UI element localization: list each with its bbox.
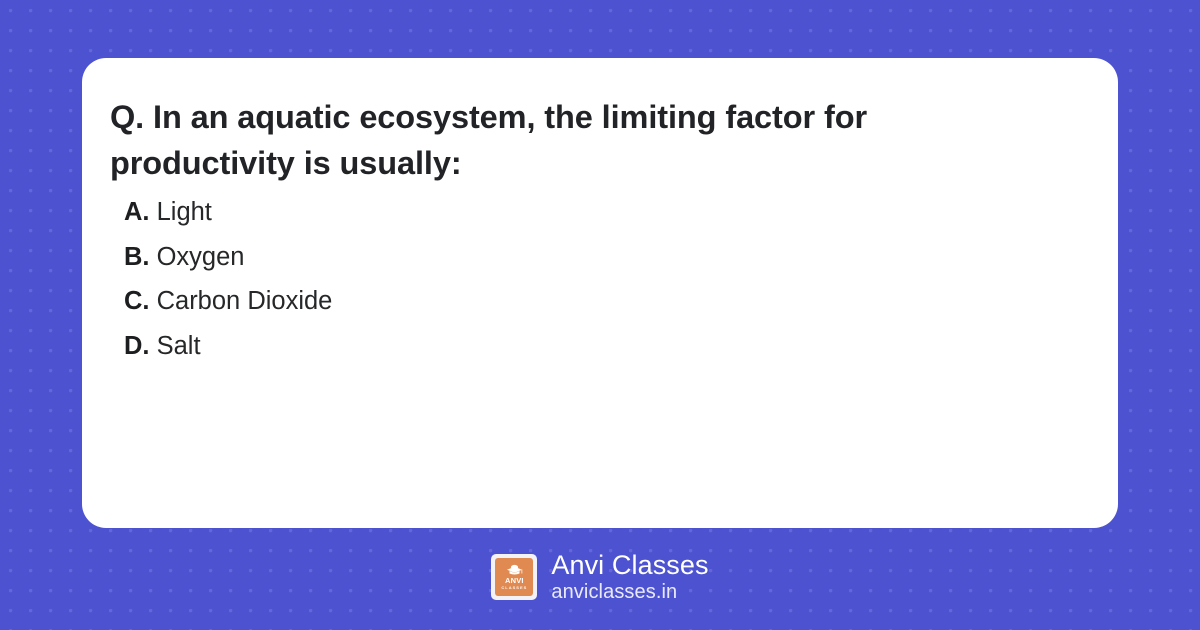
brand-logo-word: ANVI — [505, 577, 524, 585]
question-card: Q. In an aquatic ecosystem, the limiting… — [82, 58, 1118, 528]
option-c-letter: C. — [124, 287, 150, 315]
question-text: Q. In an aquatic ecosystem, the limiting… — [110, 94, 1010, 186]
option-d-text: Salt — [157, 332, 201, 360]
option-a[interactable]: A. Light — [110, 200, 1090, 226]
option-a-letter: A. — [124, 198, 150, 226]
options-list: A. Light B. Oxygen C. Carbon Dioxide D. … — [110, 200, 1090, 359]
brand-logo-inner: ANVI CLASSES — [495, 558, 533, 596]
brand-logo-sub: CLASSES — [501, 586, 527, 590]
option-b-text: Oxygen — [157, 243, 245, 271]
option-a-text: Light — [157, 198, 212, 226]
option-c-text: Carbon Dioxide — [157, 287, 333, 315]
option-b-letter: B. — [124, 243, 150, 271]
graduation-cap-icon — [506, 564, 523, 575]
brand-logo: ANVI CLASSES — [491, 554, 537, 600]
option-c[interactable]: C. Carbon Dioxide — [110, 289, 1090, 315]
brand-text-block: Anvi Classes anviclasses.in — [551, 550, 708, 604]
brand-name: Anvi Classes — [551, 550, 708, 580]
option-d[interactable]: D. Salt — [110, 334, 1090, 360]
option-b[interactable]: B. Oxygen — [110, 245, 1090, 271]
slide-canvas: Q. In an aquatic ecosystem, the limiting… — [0, 0, 1200, 630]
option-d-letter: D. — [124, 332, 150, 360]
brand-url: anviclasses.in — [551, 580, 708, 604]
footer-branding: ANVI CLASSES Anvi Classes anviclasses.in — [0, 546, 1200, 608]
